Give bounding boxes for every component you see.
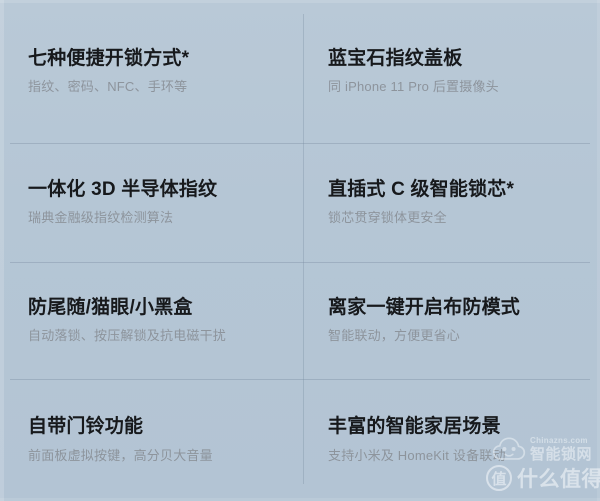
feature-title: 自带门铃功能 (28, 415, 289, 439)
feature-title: 直插式 C 级智能锁芯* (328, 178, 586, 202)
feature-title: 蓝宝石指纹盖板 (328, 47, 586, 71)
watermark-zns-text: Chinazns.com 智能锁网 (530, 437, 592, 462)
divider-row-1 (10, 143, 590, 144)
feature-subtitle: 智能联动，方便更省心 (328, 328, 586, 345)
feature-title: 七种便捷开锁方式* (28, 47, 289, 71)
feature-subtitle: 指纹、密码、NFC、手环等 (28, 79, 289, 96)
feature-cell-1: 七种便捷开锁方式* 指纹、密码、NFC、手环等 (0, 0, 303, 143)
feature-subtitle: 自动落锁、按压解锁及抗电磁干扰 (28, 328, 289, 345)
feature-subtitle: 前面板虚拟按键，高分贝大音量 (28, 448, 289, 465)
feature-cell-2: 蓝宝石指纹盖板 同 iPhone 11 Pro 后置摄像头 (303, 0, 600, 143)
feature-subtitle: 锁芯贯穿锁体更安全 (328, 210, 586, 227)
feature-cell-6: 离家一键开启布防模式 智能联动，方便更省心 (303, 262, 600, 379)
feature-title: 一体化 3D 半导体指纹 (28, 178, 289, 202)
watermark-smzdm: 值 什么值得买 (486, 463, 600, 493)
watermark-zhinengsuowang: Chinazns.com 智能锁网 (492, 436, 592, 462)
feature-cell-3: 一体化 3D 半导体指纹 瑞典金融级指纹检测算法 (0, 143, 303, 262)
watermark-domain: Chinazns.com (530, 437, 592, 445)
feature-subtitle: 瑞典金融级指纹检测算法 (28, 210, 289, 227)
features-grid: 七种便捷开锁方式* 指纹、密码、NFC、手环等 蓝宝石指纹盖板 同 iPhone… (0, 0, 600, 501)
feature-grid-page: 七种便捷开锁方式* 指纹、密码、NFC、手环等 蓝宝石指纹盖板 同 iPhone… (0, 0, 600, 501)
smzdm-badge-icon: 值 (486, 465, 512, 491)
watermark-site-name: 智能锁网 (530, 447, 592, 462)
feature-title: 防尾随/猫眼/小黑盒 (28, 296, 289, 320)
divider-row-3 (10, 379, 590, 380)
feature-title: 离家一键开启布防模式 (328, 296, 586, 320)
cloud-lock-icon (492, 436, 526, 462)
divider-column (303, 14, 304, 484)
feature-cell-5: 防尾随/猫眼/小黑盒 自动落锁、按压解锁及抗电磁干扰 (0, 262, 303, 379)
feature-cell-4: 直插式 C 级智能锁芯* 锁芯贯穿锁体更安全 (303, 143, 600, 262)
divider-row-2 (10, 262, 590, 263)
watermark-smzdm-name: 什么值得买 (517, 463, 600, 493)
feature-subtitle: 同 iPhone 11 Pro 后置摄像头 (328, 79, 586, 96)
feature-cell-7: 自带门铃功能 前面板虚拟按键，高分贝大音量 (0, 379, 303, 501)
